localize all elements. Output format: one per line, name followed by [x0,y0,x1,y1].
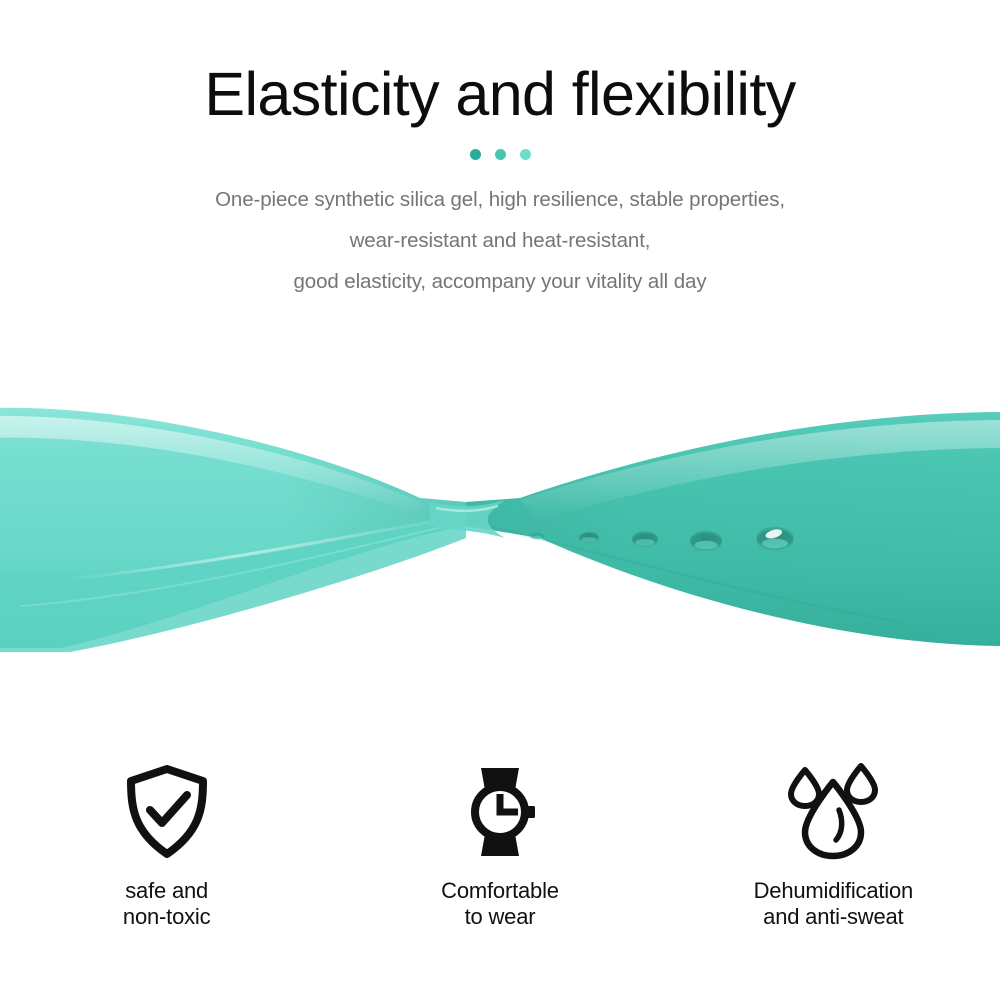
adjustment-hole-5 [530,533,544,539]
adjustment-hole-1 [579,532,599,543]
subtitle-line-1: One-piece synthetic silica gel, high res… [0,179,1000,220]
product-feature-page: Elasticity and flexibility One-piece syn… [0,0,1000,1000]
adjustment-hole-3 [690,531,722,551]
wristwatch-icon [452,762,548,862]
feature-dehumidification: Dehumidification and anti-sweat [667,762,1000,930]
dot-3-icon [520,149,531,160]
feature-list: safe and non-toxic Comfortable to wear [0,762,1000,930]
feature-label-comfortable-to-wear: Comfortable to wear [441,878,559,930]
shield-check-icon [119,762,215,862]
dot-1-icon [470,149,481,160]
adjustment-hole-4 [757,527,794,551]
dot-2-icon [495,149,506,160]
header-section: Elasticity and flexibility One-piece syn… [0,0,1000,302]
adjustment-hole-2 [632,531,658,547]
decorative-dots [0,148,1000,160]
page-title: Elasticity and flexibility [0,62,1000,126]
subtitle-line-2: wear-resistant and heat-resistant, [0,220,1000,261]
feature-label-safe-non-toxic: safe and non-toxic [123,878,210,930]
product-image [0,330,1000,730]
feature-comfortable-to-wear: Comfortable to wear [333,762,666,930]
feature-safe-non-toxic: safe and non-toxic [0,762,333,930]
feature-label-dehumidification: Dehumidification and anti-sweat [754,878,913,930]
subtitle-block: One-piece synthetic silica gel, high res… [0,179,1000,302]
water-drops-icon [785,762,881,862]
twisted-band-illustration [0,330,1000,730]
subtitle-line-3: good elasticity, accompany your vitality… [0,261,1000,302]
